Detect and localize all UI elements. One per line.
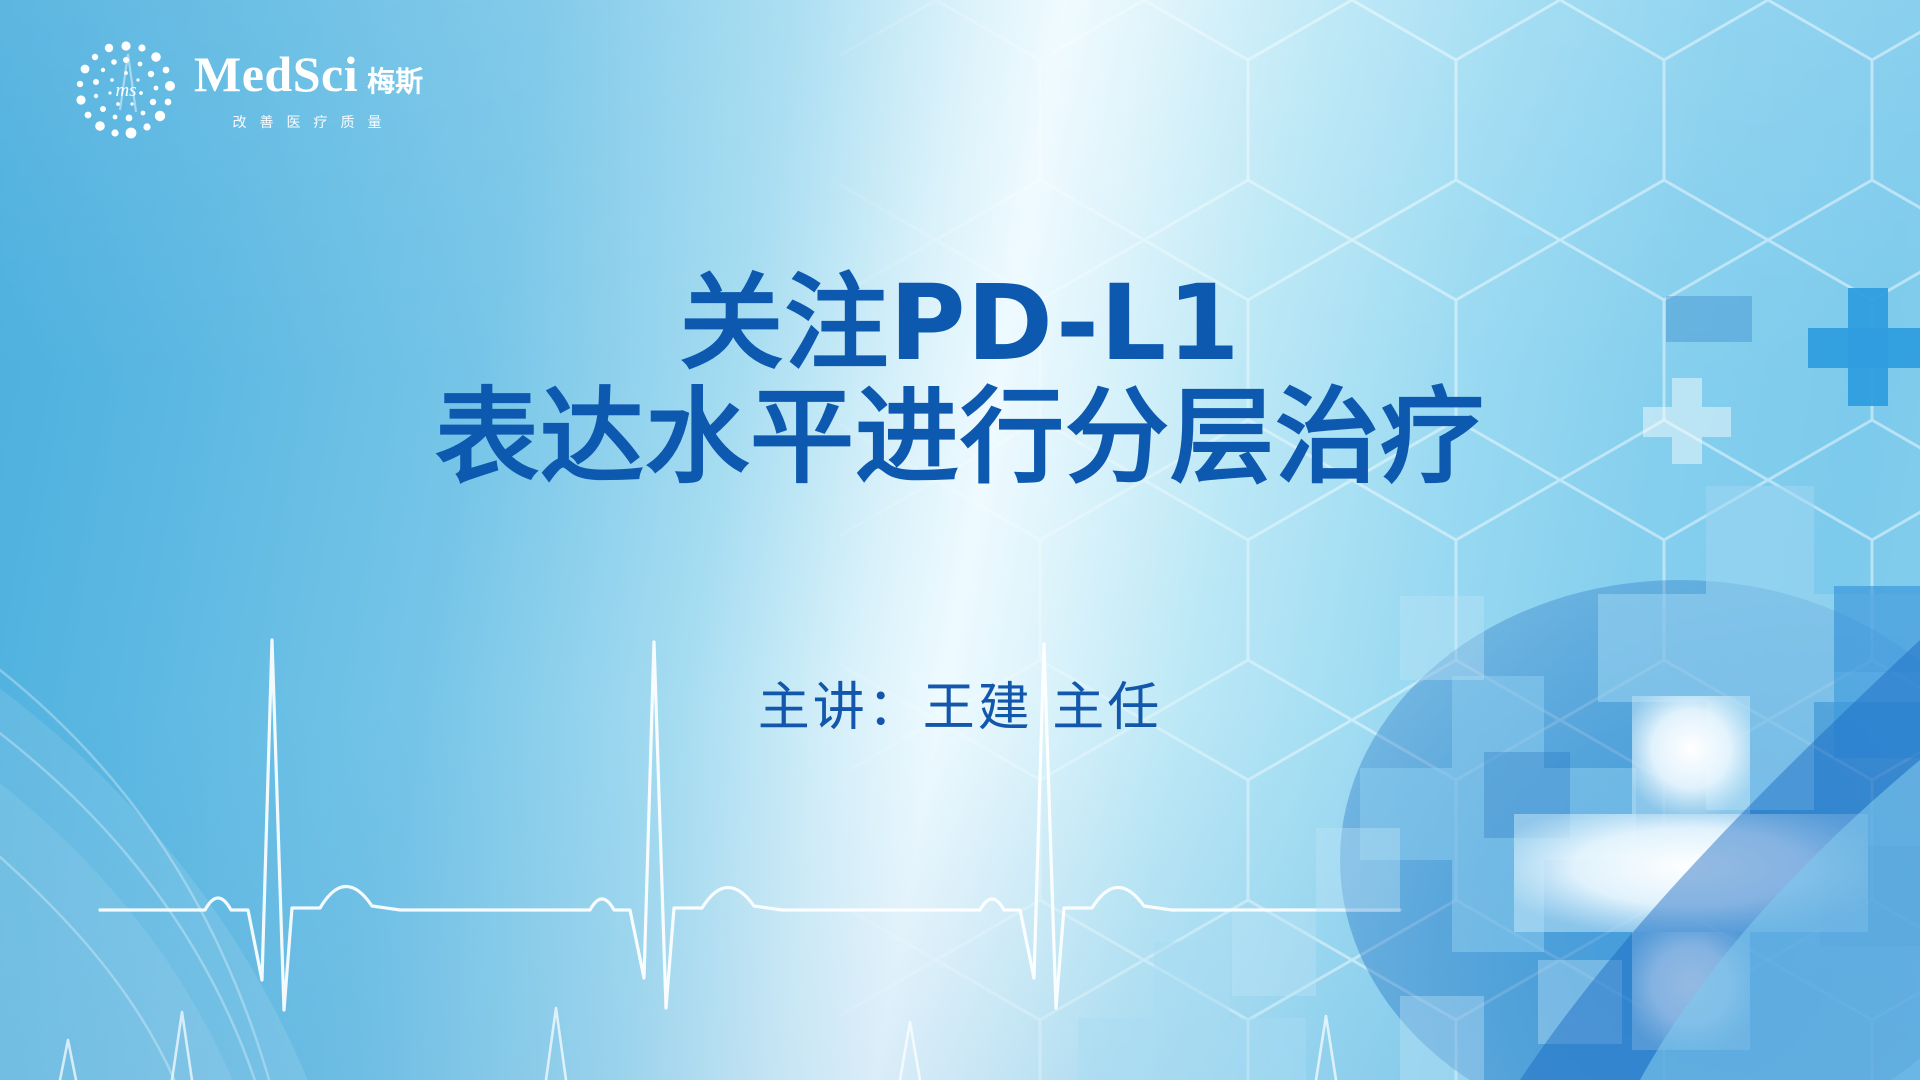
medsci-dot-circle-logo-icon: ms xyxy=(74,38,178,142)
logo-ms-text: ms xyxy=(115,80,136,101)
hexagon-pattern-layer xyxy=(0,0,1920,1080)
corner-arcs-layer xyxy=(0,0,1920,1080)
title-line-1: 关注PD-L1 xyxy=(0,268,1920,378)
cross-pale-large xyxy=(1598,486,1920,810)
logo-tagline: 改善医疗质量 xyxy=(194,112,423,132)
ecg-waveform-layer xyxy=(0,0,1920,1080)
presenter-subtitle: 主讲：王建 主任 xyxy=(0,665,1920,740)
page-title: 关注PD-L1 表达水平进行分层治疗 xyxy=(0,268,1920,492)
medical-cross-mosaic-layer xyxy=(0,0,1920,1080)
logo-wordmark-group: MedSci 梅斯 改善医疗质量 xyxy=(194,49,423,132)
cross-bright-center xyxy=(1514,696,1868,1050)
title-line-2: 表达水平进行分层治疗 xyxy=(0,382,1920,492)
slide-canvas: ms MedSci 梅斯 改善医疗质量 关注PD-L1 表达水平进行分层治疗 主… xyxy=(0,0,1920,1080)
logo-wordmark-cn: 梅斯 xyxy=(367,68,423,96)
cross-lower-left xyxy=(1078,942,1306,1080)
logo-wordmark: MedSci xyxy=(194,49,358,99)
medsci-logo[interactable]: ms MedSci 梅斯 改善医疗质量 xyxy=(74,38,423,142)
